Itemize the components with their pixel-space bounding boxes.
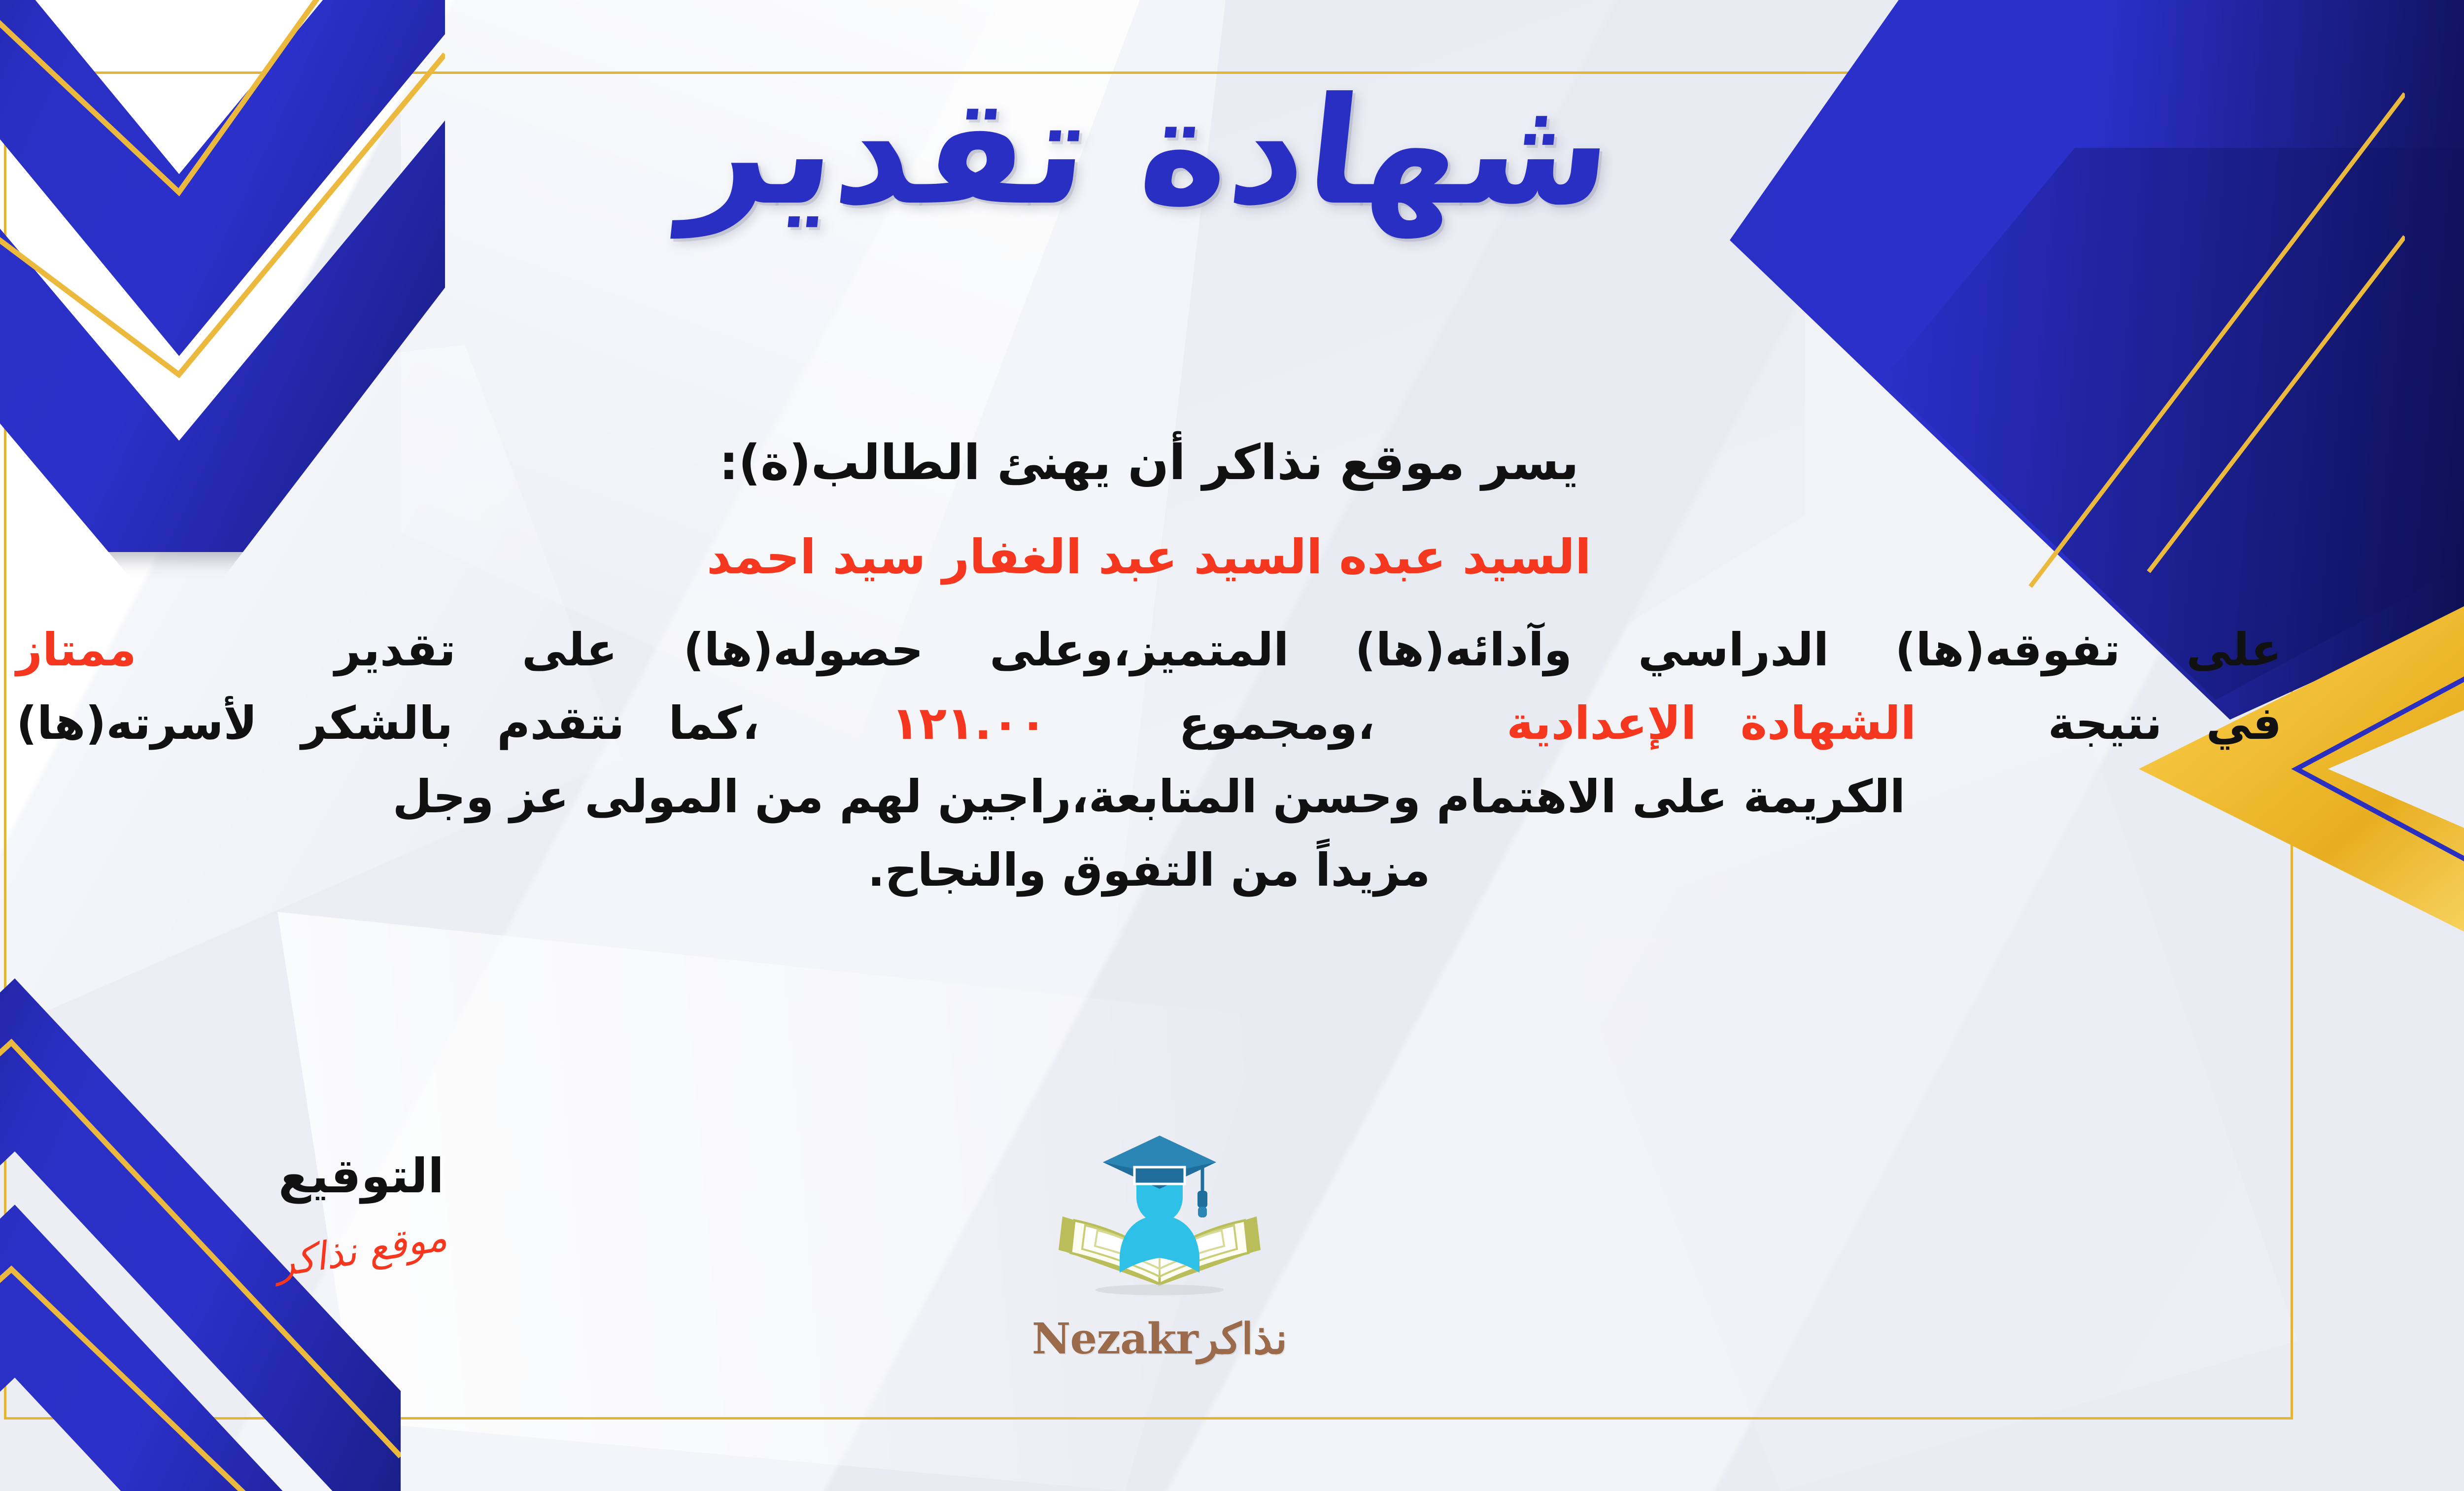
- result-line: في نتيجة الشهادة الإعدادية ،ومجموع ١٢١.٠…: [16, 687, 2282, 760]
- brand-logo: نذاكرNezakr: [948, 1129, 1371, 1434]
- total-label: ،ومجموع: [1179, 697, 1375, 750]
- logo-wordmark: نذاكرNezakr: [948, 1314, 1371, 1364]
- achievement-text: على تفوقه(ها) الدراسي وآدائه(ها) المتميز…: [335, 624, 2282, 676]
- graduate-on-book-icon: [1044, 1129, 1275, 1311]
- grade-value: ممتاز: [16, 624, 137, 676]
- certificate-body: يسر موقع نذاكر أن يهنئ الطالب(ة): السيد …: [16, 424, 2282, 907]
- congratulation-line: يسر موقع نذاكر أن يهنئ الطالب(ة):: [16, 424, 2282, 502]
- result-label: في نتيجة: [2048, 697, 2282, 750]
- thanks-text: ،كما نتقدم بالشكر لأسرته(ها): [16, 697, 759, 750]
- closing-wish-line: مزيداً من التفوق والنجاح.: [16, 833, 2282, 907]
- signature-block: التوقيع موقع نذاكر: [208, 1148, 514, 1273]
- certificate-canvas: شهادة تقدير يسر موقع نذاكر أن يهنئ الطال…: [0, 0, 2464, 1491]
- logo-wordmark-arabic: نذاكر: [1198, 1314, 1287, 1364]
- signature-label: التوقيع: [208, 1148, 514, 1204]
- logo-wordmark-latin: Nezakr: [1032, 1314, 1198, 1364]
- family-thanks-line: الكريمة على الاهتمام وحسن المتابعة،راجين…: [16, 760, 2282, 833]
- page-title: شهادة تقدير: [676, 59, 1622, 244]
- logo-mark: [1044, 1129, 1275, 1311]
- signature-mark: موقع نذاكر: [273, 1215, 450, 1286]
- certificate-title-area: شهادة تقدير: [0, 59, 2464, 244]
- achievement-line: على تفوقه(ها) الدراسي وآدائه(ها) المتميز…: [16, 613, 2282, 687]
- certificate-name: الشهادة الإعدادية: [1506, 697, 1916, 750]
- total-score-value: ١٢١.٠٠: [891, 697, 1047, 750]
- student-name: السيد عبده السيد عبد الغفار سيد احمد: [16, 519, 2282, 596]
